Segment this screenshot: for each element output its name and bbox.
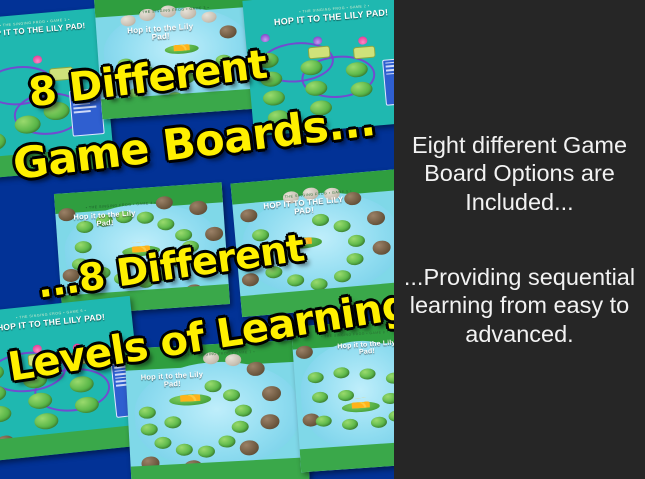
- water-lily: [313, 36, 323, 45]
- lily-pad: [74, 396, 100, 414]
- rock: [189, 200, 208, 215]
- board-instructions-box: [382, 57, 394, 105]
- lily-pad: [33, 412, 59, 430]
- lotus-flower: [180, 390, 201, 407]
- water-lily: [33, 55, 43, 64]
- lily-pad: [0, 132, 7, 152]
- description-panel: Eight different Game Board Options are I…: [394, 0, 645, 479]
- description-paragraph-2: ...Providing sequential learning from ea…: [394, 263, 645, 349]
- promo-slide: • THE SINGING FROG • GAME 1 • HOP IT TO …: [0, 0, 645, 479]
- board-label-tag: [353, 45, 376, 59]
- rock: [295, 346, 313, 360]
- board-label-tag: [307, 45, 330, 59]
- lily-pad: [0, 405, 12, 423]
- lily-pad: [263, 90, 286, 107]
- description-paragraph-1: Eight different Game Board Options are I…: [394, 131, 645, 217]
- game-board-collage-panel: • THE SINGING FROG • GAME 1 • HOP IT TO …: [0, 0, 394, 479]
- lily-pad: [154, 436, 172, 449]
- lily-pad: [234, 404, 252, 417]
- lotus-flower: [351, 397, 370, 413]
- water-lily: [358, 36, 368, 45]
